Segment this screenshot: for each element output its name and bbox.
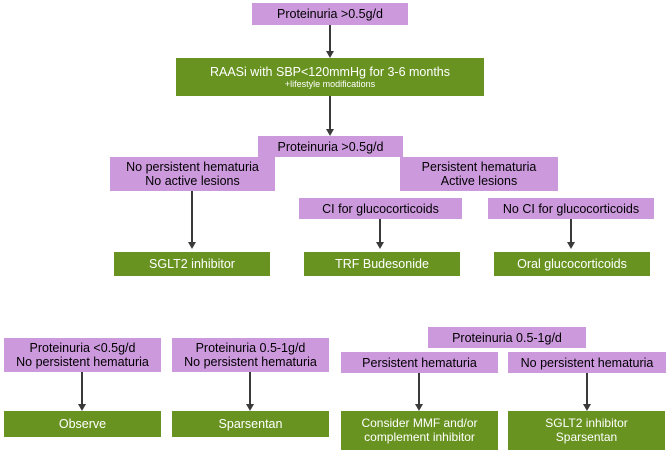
- node-sparsentan: Sparsentan: [172, 411, 329, 437]
- arrow-to-sglt2: [188, 242, 196, 249]
- connector-raasi-to-proteinuria: [329, 96, 331, 130]
- node-second-proteinuria: Proteinuria >0.5g/d: [258, 136, 403, 157]
- node-label-line1: Proteinuria 0.5-1g/d: [196, 341, 306, 355]
- node-oral-glucocorticoids: Oral glucocorticoids: [494, 252, 650, 276]
- node-ci-glucocorticoids: CI for glucocorticoids: [299, 198, 462, 219]
- arrow-raasi-to-proteinuria: [326, 129, 334, 136]
- arrow-to-sglt2-sparsentan: [583, 404, 591, 411]
- node-label: SGLT2 inhibitor: [149, 257, 235, 271]
- node-label-line1: SGLT2 inhibitor: [545, 417, 627, 430]
- connector-to-oral-glucocorticoids: [570, 219, 572, 243]
- node-label-line1: Persistent hematuria: [422, 160, 537, 174]
- node-consider-mmf: Consider MMF and/or complement inhibitor: [341, 411, 498, 450]
- arrow-to-sparsentan: [246, 404, 254, 411]
- connector-to-consider-mmf: [418, 373, 420, 405]
- arrow-top-to-raasi: [326, 51, 334, 58]
- arrow-to-trf-budesonide: [376, 242, 384, 249]
- node-no-persistent-hematuria: No persistent hematuria No active lesion…: [110, 157, 275, 191]
- node-label: Proteinuria >0.5g/d: [278, 140, 384, 154]
- node-bottom-proteinuria-right: Proteinuria 0.5-1g/d: [428, 327, 586, 348]
- connector-to-sparsentan: [249, 372, 251, 405]
- node-no-ci-glucocorticoids: No CI for glucocorticoids: [488, 198, 654, 219]
- node-label-line2: No persistent hematuria: [16, 355, 149, 369]
- node-label: No persistent hematuria: [521, 356, 654, 370]
- node-bottom-proteinuria-mid: Proteinuria 0.5-1g/d No persistent hemat…: [172, 338, 329, 372]
- arrow-to-observe: [78, 404, 86, 411]
- node-top-proteinuria: Proteinuria >0.5g/d: [252, 3, 408, 25]
- node-label: Oral glucocorticoids: [517, 257, 627, 271]
- node-sglt2-inhibitor: SGLT2 inhibitor: [114, 252, 270, 276]
- node-label: No CI for glucocorticoids: [503, 202, 639, 216]
- node-label: Observe: [59, 417, 106, 431]
- flowchart-canvas: Proteinuria >0.5g/d RAASi with SBP<120mm…: [0, 0, 666, 452]
- node-label-line1: Consider MMF and/or: [361, 417, 477, 430]
- node-label-line2: No persistent hematuria: [184, 355, 317, 369]
- node-bottom-proteinuria-low: Proteinuria <0.5g/d No persistent hematu…: [4, 338, 161, 372]
- node-persistent-hematuria: Persistent hematuria Active lesions: [400, 157, 558, 191]
- node-label-secondary: +lifestyle modifications: [285, 79, 375, 89]
- node-trf-budesonide: TRF Budesonide: [304, 252, 460, 276]
- node-label-line2: No active lesions: [145, 174, 240, 188]
- node-sglt2-sparsentan: SGLT2 inhibitor Sparsentan: [508, 411, 665, 450]
- node-label-line1: No persistent hematuria: [126, 160, 259, 174]
- node-label: Proteinuria 0.5-1g/d: [452, 331, 562, 345]
- connector-to-sglt2-sparsentan: [586, 373, 588, 405]
- connector-to-observe: [81, 372, 83, 405]
- arrow-to-consider-mmf: [415, 404, 423, 411]
- node-bottom-no-persistent-hematuria: No persistent hematuria: [508, 352, 666, 373]
- arrow-to-oral-glucocorticoids: [567, 242, 575, 249]
- node-label-line2: Sparsentan: [556, 431, 617, 444]
- node-raasi: RAASi with SBP<120mmHg for 3-6 months +l…: [176, 58, 484, 96]
- node-label: Sparsentan: [219, 417, 283, 431]
- node-observe: Observe: [4, 411, 161, 437]
- connector-to-sglt2: [191, 191, 193, 243]
- node-label-line1: Proteinuria <0.5g/d: [30, 341, 136, 355]
- connector-to-trf-budesonide: [379, 219, 381, 243]
- node-label-line2: complement inhibitor: [364, 431, 475, 444]
- node-label-primary: RAASi with SBP<120mmHg for 3-6 months: [210, 65, 450, 79]
- connector-top-to-raasi: [329, 25, 331, 52]
- node-label: Persistent hematuria: [362, 356, 477, 370]
- node-label: CI for glucocorticoids: [322, 202, 439, 216]
- node-label: Proteinuria >0.5g/d: [277, 7, 383, 21]
- node-label-line2: Active lesions: [441, 174, 517, 188]
- node-bottom-persistent-hematuria: Persistent hematuria: [341, 352, 498, 373]
- node-label: TRF Budesonide: [335, 257, 429, 271]
